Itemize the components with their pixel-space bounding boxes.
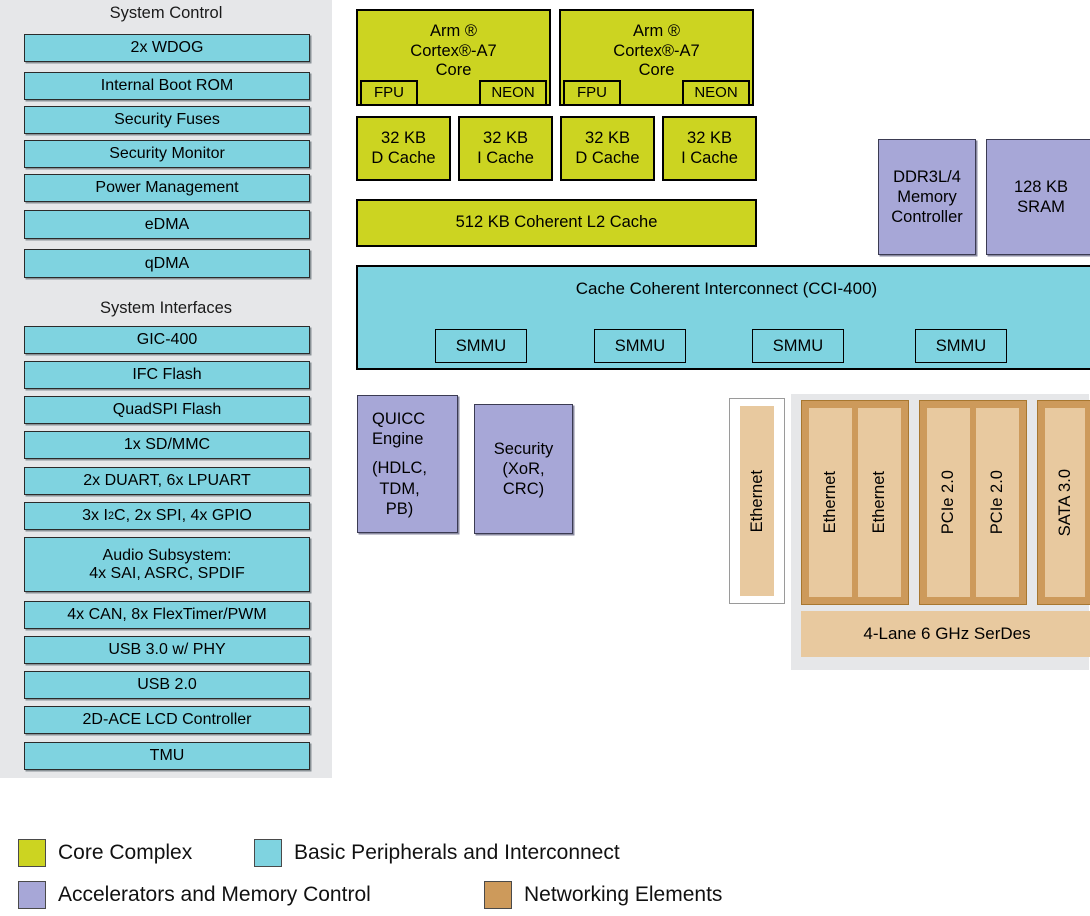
sram-block[interactable]: 128 KB SRAM <box>986 139 1090 255</box>
cache-size: 32 KB <box>575 129 639 149</box>
sidebar-item-label: 4x CAN, 8x FlexTimer/PWM <box>67 606 266 624</box>
sidebar-item-edma[interactable]: eDMA <box>24 210 310 239</box>
neon-label: NEON <box>694 84 737 102</box>
security-line-2: (XoR, <box>494 459 554 479</box>
sidebar-item-label: USB 2.0 <box>137 676 197 694</box>
ethernet-standalone-block[interactable]: Ethernet <box>729 398 785 604</box>
legend-item-basic-peripherals: Basic Peripherals and Interconnect <box>254 839 620 867</box>
quicc-line-2: Engine <box>372 429 427 449</box>
quicc-line-1: QUICC <box>372 409 427 429</box>
core-line-1: Arm ® <box>613 22 699 41</box>
net-lane-pcie-0[interactable]: PCIe 2.0 <box>927 408 970 597</box>
smmu-label: SMMU <box>456 337 506 356</box>
sidebar-item-label: 2D-ACE LCD Controller <box>83 711 252 729</box>
core-line-3: Core <box>410 61 496 80</box>
sidebar-item-label: 2x WDOG <box>131 39 204 57</box>
legend-swatch-basic-peripherals <box>254 839 282 867</box>
cache-kind: D Cache <box>371 149 435 169</box>
sidebar-item-can-flextimer[interactable]: 4x CAN, 8x FlexTimer/PWM <box>24 601 310 629</box>
security-block[interactable]: Security (XoR, CRC) <box>474 404 573 534</box>
net-lane-ethernet-1[interactable]: Ethernet <box>858 408 901 597</box>
cache-kind: I Cache <box>681 149 738 169</box>
cache-coherent-interconnect[interactable]: Cache Coherent Interconnect (CCI-400) SM… <box>356 265 1090 370</box>
smmu-label: SMMU <box>936 337 986 356</box>
sidebar-item-label: IFC Flash <box>132 366 201 384</box>
sidebar-item-label-part1: 3x I <box>82 507 108 525</box>
l2-cache-label: 512 KB Coherent L2 Cache <box>456 213 658 233</box>
sram-line-1: 128 KB <box>1014 177 1068 197</box>
sidebar-item-security-monitor[interactable]: Security Monitor <box>24 140 310 168</box>
sidebar-item-usb-30[interactable]: USB 3.0 w/ PHY <box>24 636 310 664</box>
sidebar-item-power-management[interactable]: Power Management <box>24 174 310 202</box>
sata-serdes-group[interactable]: SATA 3.0 <box>1037 400 1090 605</box>
core-line-2: Cortex®-A7 <box>410 42 496 61</box>
net-lane-label: Ethernet <box>870 471 889 533</box>
cache-size: 32 KB <box>681 129 738 149</box>
sidebar-item-label: QuadSPI Flash <box>113 401 222 419</box>
net-lane-sata-0[interactable]: SATA 3.0 <box>1045 408 1085 597</box>
sidebar-item-label-part2: C, 2x SPI, 4x GPIO <box>114 507 252 525</box>
net-lane-label: PCIe 2.0 <box>988 470 1007 534</box>
ethernet-standalone-inner: Ethernet <box>740 406 774 596</box>
net-lane-ethernet-0[interactable]: Ethernet <box>809 408 852 597</box>
legend-item-core-complex: Core Complex <box>18 839 192 867</box>
arm-cortex-a7-core-0[interactable]: Arm ® Cortex®-A7 Core FPU NEON <box>356 9 551 106</box>
left-sidebar-panel: System Control 2x WDOG Internal Boot ROM… <box>0 0 332 778</box>
fpu-label: FPU <box>577 84 607 102</box>
smmu-label: SMMU <box>773 337 823 356</box>
sidebar-item-label: GIC-400 <box>137 331 197 349</box>
sidebar-item-label-line2: 4x SAI, ASRC, SPDIF <box>89 565 245 583</box>
ethernet-standalone-label: Ethernet <box>748 470 767 532</box>
smmu-3[interactable]: SMMU <box>915 329 1007 363</box>
serdes-bar[interactable]: 4-Lane 6 GHz SerDes <box>801 611 1090 657</box>
sidebar-item-gic-400[interactable]: GIC-400 <box>24 326 310 354</box>
cache-kind: D Cache <box>575 149 639 169</box>
sidebar-item-tmu[interactable]: TMU <box>24 742 310 770</box>
cache-size: 32 KB <box>371 129 435 149</box>
quicc-spacer <box>372 449 427 458</box>
smmu-label: SMMU <box>615 337 665 356</box>
pcie-serdes-group[interactable]: PCIe 2.0 PCIe 2.0 <box>919 400 1027 605</box>
sidebar-item-sd-mmc[interactable]: 1x SD/MMC <box>24 431 310 459</box>
ddr-memory-controller[interactable]: DDR3L/4 Memory Controller <box>878 139 976 255</box>
neon-unit-0[interactable]: NEON <box>479 80 547 106</box>
security-line-3: CRC) <box>494 479 554 499</box>
serdes-panel: Ethernet Ethernet PCIe 2.0 PCIe 2.0 SATA… <box>791 394 1089 670</box>
smmu-1[interactable]: SMMU <box>594 329 686 363</box>
legend-swatch-accelerators <box>18 881 46 909</box>
quicc-line-4: TDM, <box>372 479 427 499</box>
sidebar-item-duart-lpuart[interactable]: 2x DUART, 6x LPUART <box>24 467 310 495</box>
sidebar-item-label: Security Fuses <box>114 111 220 129</box>
sidebar-item-quadspi-flash[interactable]: QuadSPI Flash <box>24 396 310 424</box>
system-interfaces-heading: System Interfaces <box>0 300 332 317</box>
net-lane-label: PCIe 2.0 <box>939 470 958 534</box>
cache-size: 32 KB <box>477 129 534 149</box>
sidebar-item-i2c-spi-gpio[interactable]: 3x I2C, 2x SPI, 4x GPIO <box>24 502 310 530</box>
serdes-label: 4-Lane 6 GHz SerDes <box>863 624 1030 644</box>
legend-swatch-networking <box>484 881 512 909</box>
sidebar-item-2d-ace-lcd-controller[interactable]: 2D-ACE LCD Controller <box>24 706 310 734</box>
legend-label-basic-peripherals: Basic Peripherals and Interconnect <box>294 841 620 865</box>
legend-label-networking: Networking Elements <box>524 883 722 907</box>
l1-cache-0[interactable]: 32 KB D Cache <box>356 116 451 181</box>
net-lane-label: SATA 3.0 <box>1056 469 1075 536</box>
neon-label: NEON <box>491 84 534 102</box>
sidebar-item-ifc-flash[interactable]: IFC Flash <box>24 361 310 389</box>
l1-cache-3[interactable]: 32 KB I Cache <box>662 116 757 181</box>
mc-line-2: Memory <box>891 187 963 207</box>
sidebar-item-label: 1x SD/MMC <box>124 436 210 454</box>
smmu-2[interactable]: SMMU <box>752 329 844 363</box>
l1-cache-1[interactable]: 32 KB I Cache <box>458 116 553 181</box>
arm-cortex-a7-core-1[interactable]: Arm ® Cortex®-A7 Core FPU NEON <box>559 9 754 106</box>
mc-line-3: Controller <box>891 207 963 227</box>
sidebar-item-label: Power Management <box>95 179 238 197</box>
fpu-unit-1[interactable]: FPU <box>563 80 621 106</box>
sidebar-item-label: Internal Boot ROM <box>101 77 234 95</box>
security-line-1: Security <box>494 439 554 459</box>
sidebar-item-security-fuses[interactable]: Security Fuses <box>24 106 310 134</box>
net-lane-label: Ethernet <box>821 471 840 533</box>
sidebar-item-audio-subsystem[interactable]: Audio Subsystem: 4x SAI, ASRC, SPDIF <box>24 537 310 592</box>
legend-swatch-core-complex <box>18 839 46 867</box>
quicc-line-3: (HDLC, <box>372 458 427 478</box>
legend-label-accelerators: Accelerators and Memory Control <box>58 883 371 907</box>
sidebar-item-label: 2x DUART, 6x LPUART <box>83 472 250 490</box>
sram-line-2: SRAM <box>1014 197 1068 217</box>
interconnect-title: Cache Coherent Interconnect (CCI-400) <box>358 279 1090 299</box>
core-line-3: Core <box>613 61 699 80</box>
quicc-line-5: PB) <box>372 499 427 519</box>
sidebar-item-label: Security Monitor <box>109 145 225 163</box>
sidebar-item-label: TMU <box>150 747 185 765</box>
neon-unit-1[interactable]: NEON <box>682 80 750 106</box>
sidebar-item-label-line1: Audio Subsystem: <box>89 547 245 565</box>
sidebar-item-2x-wdog[interactable]: 2x WDOG <box>24 34 310 62</box>
l2-cache[interactable]: 512 KB Coherent L2 Cache <box>356 199 757 247</box>
sidebar-item-label: USB 3.0 w/ PHY <box>108 641 225 659</box>
smmu-0[interactable]: SMMU <box>435 329 527 363</box>
l1-cache-2[interactable]: 32 KB D Cache <box>560 116 655 181</box>
core-line-2: Cortex®-A7 <box>613 42 699 61</box>
core-line-1: Arm ® <box>410 22 496 41</box>
fpu-unit-0[interactable]: FPU <box>360 80 418 106</box>
net-lane-pcie-1[interactable]: PCIe 2.0 <box>976 408 1019 597</box>
legend-item-networking: Networking Elements <box>484 881 722 909</box>
sidebar-item-internal-boot-rom[interactable]: Internal Boot ROM <box>24 72 310 100</box>
sidebar-item-qdma[interactable]: qDMA <box>24 249 310 278</box>
system-control-heading: System Control <box>0 5 332 22</box>
legend-item-accelerators: Accelerators and Memory Control <box>18 881 371 909</box>
quicc-engine-block[interactable]: QUICC Engine (HDLC, TDM, PB) <box>357 395 458 533</box>
legend-label-core-complex: Core Complex <box>58 841 192 865</box>
sidebar-item-label: qDMA <box>145 255 189 273</box>
mc-line-1: DDR3L/4 <box>891 167 963 187</box>
ethernet-serdes-group[interactable]: Ethernet Ethernet <box>801 400 909 605</box>
fpu-label: FPU <box>374 84 404 102</box>
cache-kind: I Cache <box>477 149 534 169</box>
sidebar-item-label: eDMA <box>145 216 189 234</box>
sidebar-item-usb-20[interactable]: USB 2.0 <box>24 671 310 699</box>
